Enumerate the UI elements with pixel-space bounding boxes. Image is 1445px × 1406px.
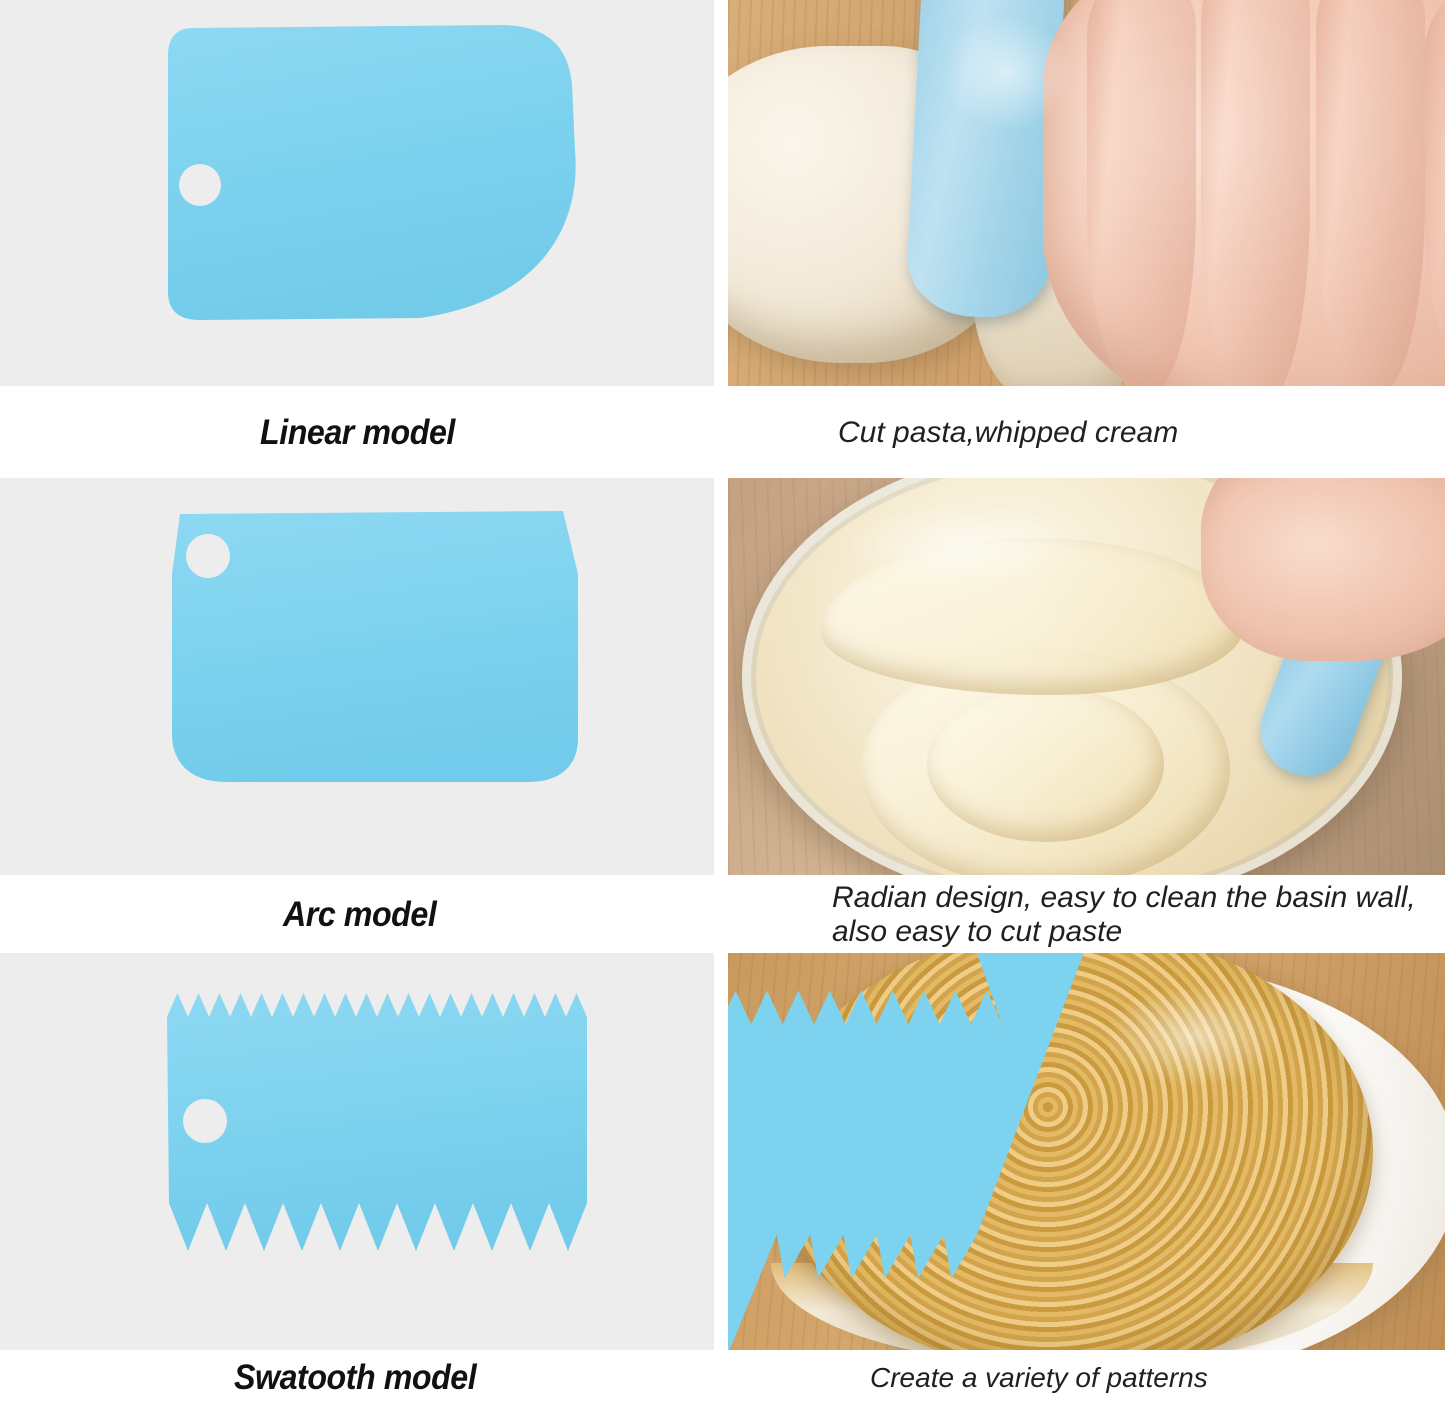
product-row-linear: Linear model [0,0,1445,480]
model-label-sawtooth: Swatooth model [234,1358,476,1398]
caption-band-linear-label: Linear model [0,386,714,480]
product-shot-cell-linear: Linear model [0,0,714,480]
linear-scraper-artwork [0,0,714,386]
sawtooth-scraper-overlay [728,953,1087,1350]
usage-caption-linear: Cut pasta,whipped cream [838,416,1178,449]
finger [1087,0,1196,386]
hand [1043,0,1445,386]
usage-photo-cell-sawtooth: Create a variety of patterns [728,953,1445,1406]
caption-band-sawtooth-desc: Create a variety of patterns [728,1350,1445,1406]
sawtooth-scraper-icon [0,953,714,1350]
photo-cake-ring-pattern [728,953,1445,1350]
finger [1201,0,1310,386]
usage-photo-cell-linear: Cut pasta,whipped cream [728,0,1445,480]
batter-swirl [927,686,1164,843]
sawtooth-scraper-artwork [0,953,714,1350]
caption-band-linear-desc: Cut pasta,whipped cream [728,386,1445,480]
finger [1425,0,1445,383]
usage-caption-sawtooth: Create a variety of patterns [870,1362,1208,1393]
arc-scraper-icon [0,478,714,875]
photo-scraper-in-batter-bowl [728,478,1445,875]
product-panel-linear [0,0,714,386]
model-label-arc: Arc model [283,895,436,935]
linear-scraper-icon [0,0,714,386]
hand [1201,478,1445,661]
usage-caption-arc: Radian design, easy to clean the basin w… [832,881,1416,948]
product-panel-arc [0,478,714,875]
caption-band-sawtooth-label: Swatooth model [0,1350,714,1406]
caption-band-arc-label: Arc model [0,875,714,955]
usage-photo-cell-arc: Radian design, easy to clean the basin w… [728,478,1445,955]
photo-hand-cutting-dough [728,0,1445,386]
product-shot-cell-sawtooth: Swatooth model [0,953,714,1406]
batter-swirl [821,538,1243,695]
arc-scraper-artwork [0,478,714,875]
caption-band-arc-desc: Radian design, easy to clean the basin w… [728,875,1445,955]
product-panel-sawtooth [0,953,714,1350]
product-row-sawtooth: Swatooth model Create a v [0,953,1445,1406]
product-infographic: Linear model [0,0,1445,1406]
finger [1316,0,1425,386]
product-row-arc: Arc model [0,478,1445,955]
product-shot-cell-arc: Arc model [0,478,714,955]
model-label-linear: Linear model [260,413,455,453]
